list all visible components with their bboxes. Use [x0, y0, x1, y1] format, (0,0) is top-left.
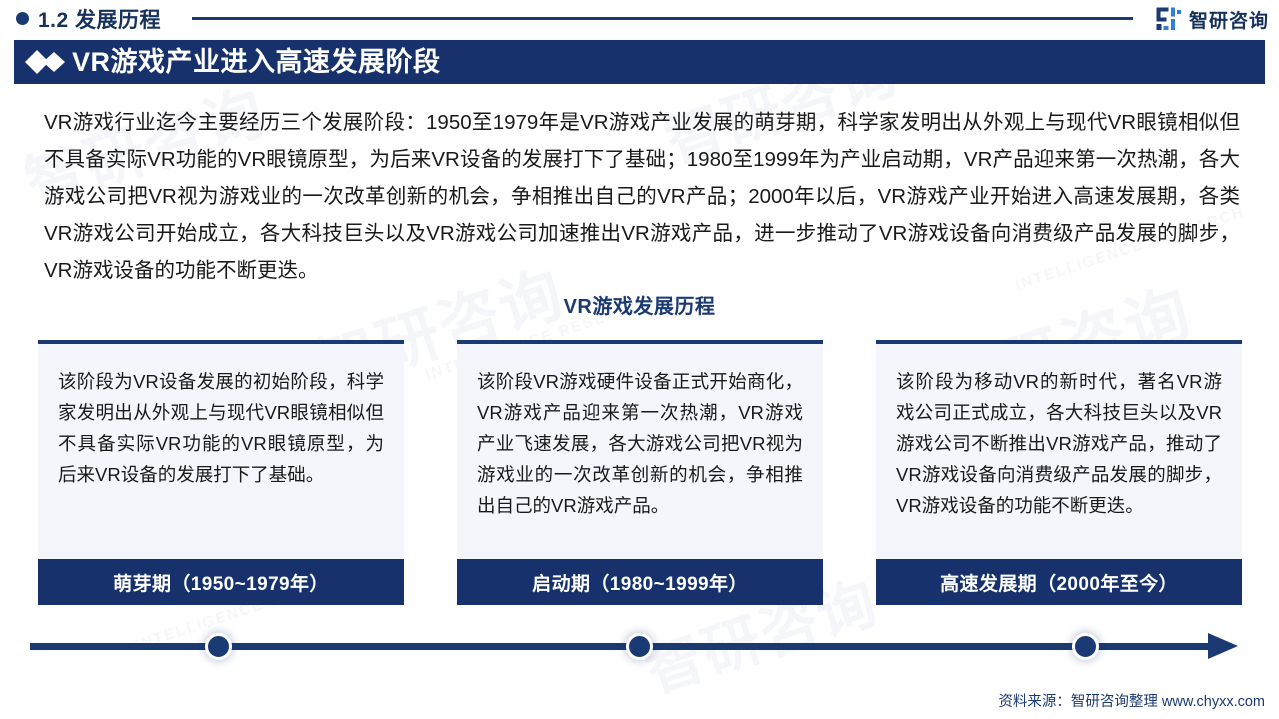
page-header: 1.2 发展历程 智研咨询 [0, 0, 1279, 38]
stage-card[interactable]: 该阶段VR游戏硬件设备正式开始商化，VR游戏产品迎来第一次热潮，VR游戏产业飞速… [457, 340, 823, 605]
double-diamond-icon [24, 49, 68, 75]
header-divider [192, 17, 1133, 20]
stage-label: 萌芽期（1950~1979年） [38, 559, 404, 605]
stage-label: 启动期（1980~1999年） [457, 559, 823, 605]
timeline-node[interactable] [205, 633, 232, 660]
source-note: 资料来源：智研咨询整理 www.chyxx.com [998, 690, 1265, 711]
stage-description: 该阶段VR游戏硬件设备正式开始商化，VR游戏产品迎来第一次热潮，VR游戏产业飞速… [457, 340, 823, 559]
bullet-dot-icon [16, 12, 29, 25]
timeline-arrow-icon [1208, 633, 1238, 659]
stage-card[interactable]: 该阶段为VR设备发展的初始阶段，科学家发明出从外观上与现代VR眼镜相似但不具备实… [38, 340, 404, 605]
timeline-axis [0, 625, 1279, 669]
timeline-cards: 该阶段为VR设备发展的初始阶段，科学家发明出从外观上与现代VR眼镜相似但不具备实… [38, 340, 1242, 605]
slide-page: 智研咨询 智研咨询 智研咨询 智研咨询 智研咨询 智研咨询 INTELLIGEN… [0, 0, 1279, 719]
section-title-band: VR游戏产业进入高速发展阶段 [14, 40, 1265, 84]
page-title: VR游戏产业进入高速发展阶段 [72, 49, 441, 76]
stage-description: 该阶段为VR设备发展的初始阶段，科学家发明出从外观上与现代VR眼镜相似但不具备实… [38, 340, 404, 559]
zhiyan-z-logo-icon [1156, 7, 1182, 31]
brand-logo: 智研咨询 [1156, 5, 1269, 33]
stage-label: 高速发展期（2000年至今） [876, 559, 1242, 605]
section-number-title: 1.2 发展历程 [38, 4, 161, 34]
timeline-node[interactable] [626, 633, 653, 660]
chart-title: VR游戏发展历程 [0, 290, 1279, 319]
intro-paragraph: VR游戏行业迄今主要经历三个发展阶段：1950至1979年是VR游戏产业发展的萌… [44, 104, 1240, 289]
timeline-node[interactable] [1072, 633, 1099, 660]
stage-description: 该阶段为移动VR的新时代，著名VR游戏公司正式成立，各大科技巨头以及VR游戏公司… [876, 340, 1242, 559]
brand-name: 智研咨询 [1189, 6, 1269, 33]
stage-card[interactable]: 该阶段为移动VR的新时代，著名VR游戏公司正式成立，各大科技巨头以及VR游戏公司… [876, 340, 1242, 605]
